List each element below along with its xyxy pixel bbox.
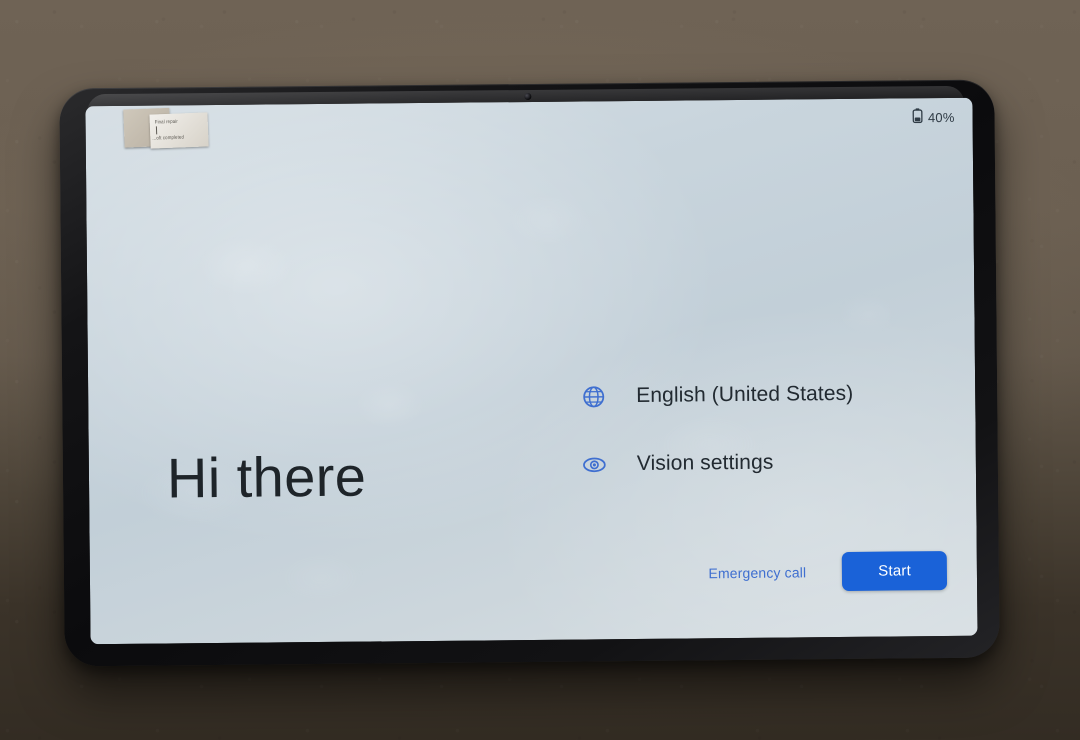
photo-scene: 40% Hi there English bbox=[0, 0, 1080, 740]
tablet-device: 40% Hi there English bbox=[59, 80, 1000, 667]
tablet-screen: 40% Hi there English bbox=[85, 98, 977, 644]
battery-percent-label: 40% bbox=[928, 109, 955, 124]
setup-actions: Emergency call Start bbox=[708, 551, 947, 592]
front-camera-icon bbox=[524, 93, 531, 100]
language-option-label: English (United States) bbox=[636, 382, 853, 408]
vision-settings-option[interactable]: Vision settings bbox=[581, 449, 854, 478]
language-option[interactable]: English (United States) bbox=[580, 381, 853, 410]
eye-icon bbox=[581, 451, 607, 477]
setup-options-list: English (United States) Vision settings bbox=[580, 381, 854, 478]
emergency-call-link[interactable]: Emergency call bbox=[708, 564, 806, 581]
globe-icon bbox=[580, 383, 606, 409]
vision-settings-option-label: Vision settings bbox=[637, 451, 774, 476]
status-bar: 40% bbox=[913, 108, 955, 126]
battery-icon bbox=[913, 108, 923, 126]
start-button[interactable]: Start bbox=[842, 551, 947, 591]
page-title: Hi there bbox=[167, 444, 367, 511]
